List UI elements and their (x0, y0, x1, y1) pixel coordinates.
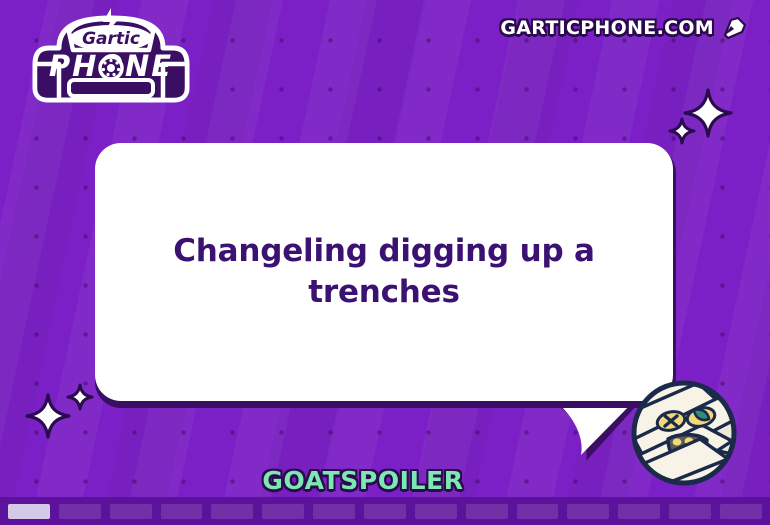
speech-bubble-body: Changeling digging up a trenches (95, 143, 673, 401)
mummy-avatar[interactable] (628, 377, 740, 489)
speech-bubble: Changeling digging up a trenches (95, 143, 673, 443)
progress-segment (59, 504, 101, 519)
pencil-icon (722, 16, 748, 40)
sparkle-top-right-large (683, 88, 733, 142)
progress-bar (0, 504, 770, 519)
progress-segment (466, 504, 508, 519)
logo-svg: Gartic PHONE (25, 6, 197, 106)
logo-gartic-text: Gartic (70, 25, 152, 51)
progress-segment (110, 504, 152, 519)
prompt-text: Changeling digging up a trenches (129, 143, 639, 401)
screen-root: Gartic PHONE GARTICPHONE.COM (0, 0, 770, 525)
progress-segment (618, 504, 660, 519)
progress-segment (364, 504, 406, 519)
progress-segment (517, 504, 559, 519)
progress-segment (211, 504, 253, 519)
site-url-text: GARTICPHONE.COM (500, 17, 714, 39)
progress-segment (262, 504, 304, 519)
svg-text:Gartic: Gartic (82, 29, 140, 49)
avatar-svg (628, 377, 740, 489)
logo-phone-text: PHONE (49, 49, 173, 83)
progress-segment (415, 504, 457, 519)
progress-segment (161, 504, 203, 519)
sparkle-bottom-left-large (25, 393, 71, 443)
sparkle-bottom-left-small (66, 383, 94, 415)
progress-segment (8, 504, 50, 519)
progress-segment (567, 504, 609, 519)
progress-segment (313, 504, 355, 519)
progress-segment (720, 504, 762, 519)
site-url[interactable]: GARTICPHONE.COM (500, 16, 748, 40)
gartic-phone-logo[interactable]: Gartic PHONE (25, 6, 197, 106)
progress-segment (669, 504, 711, 519)
